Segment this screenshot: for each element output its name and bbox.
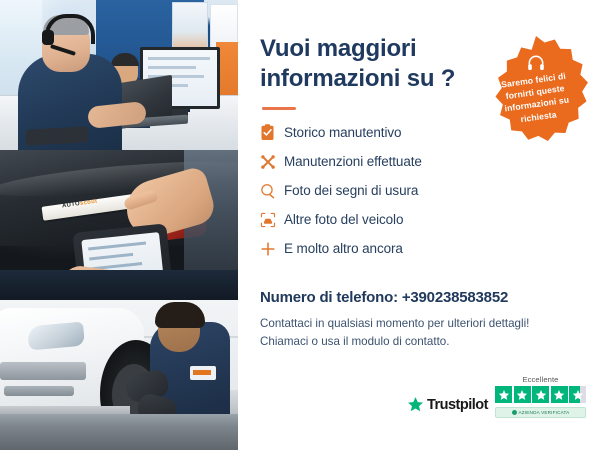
magnifier-icon bbox=[260, 183, 284, 199]
mechanic-hair bbox=[155, 302, 205, 328]
star-filled bbox=[532, 386, 549, 403]
screen-row bbox=[148, 66, 196, 69]
car-lower-grille bbox=[4, 386, 74, 396]
feature-item-altro: E molto altro ancora bbox=[260, 236, 578, 262]
feature-item-altre-foto: Altre foto del veicolo bbox=[260, 207, 578, 233]
badge-text: Saremo felici di fornirti queste informa… bbox=[477, 66, 595, 130]
trustpilot-star-icon bbox=[407, 396, 424, 413]
feature-label: E molto altro ancora bbox=[284, 241, 403, 256]
contact-line-2: Chiamaci o usa il modulo di contatto. bbox=[260, 335, 449, 348]
verified-label: AZIENDA VERIFICATA bbox=[519, 410, 570, 415]
car-grille bbox=[0, 362, 86, 380]
car-scan-icon bbox=[260, 212, 284, 228]
contact-instructions: Contattaci in qualsiasi momento per ulte… bbox=[260, 315, 578, 353]
star-filled bbox=[514, 386, 531, 403]
car-headlight bbox=[27, 322, 85, 351]
trustpilot-wordmark: Trustpilot bbox=[427, 397, 488, 413]
rating-stars bbox=[495, 386, 586, 403]
trustpilot-rating-block: Eccellente bbox=[495, 375, 586, 418]
photo-shadow-base bbox=[0, 270, 238, 300]
clipboard-check-icon bbox=[260, 124, 284, 141]
feature-label: Foto dei segni di usura bbox=[284, 183, 418, 198]
star-partial bbox=[569, 386, 586, 403]
garage-photo bbox=[0, 300, 238, 450]
lift-platform bbox=[0, 414, 238, 450]
advertisement-card: AUTOscout bbox=[0, 0, 600, 450]
headline-line-2: informazioni su ? bbox=[260, 65, 455, 92]
trustpilot-widget[interactable]: Trustpilot Eccellente bbox=[407, 375, 586, 418]
feature-label: Storico manutentivo bbox=[284, 125, 401, 140]
crossed-tools-icon bbox=[260, 154, 284, 170]
screen-row bbox=[148, 57, 210, 60]
content-panel: Vuoi maggiori informazioni su ? Saremo f… bbox=[238, 0, 600, 450]
feature-label: Altre foto del veicolo bbox=[284, 212, 403, 227]
operator-headset-cup bbox=[42, 30, 54, 45]
verified-business-badge: AZIENDA VERIFICATA bbox=[495, 407, 586, 418]
feature-item-manutenzioni: Manutenzioni effettuate bbox=[260, 149, 578, 175]
feature-label: Manutenzioni effettuate bbox=[284, 154, 422, 169]
accent-rule bbox=[262, 107, 296, 110]
rating-word: Eccellente bbox=[495, 375, 586, 384]
contact-line-1: Contattaci in qualsiasi momento per ulte… bbox=[260, 317, 529, 330]
star-filled bbox=[551, 386, 568, 403]
page-title: Vuoi maggiori informazioni su ? bbox=[260, 34, 460, 94]
feature-item-foto-usura: Foto dei segni di usura bbox=[260, 178, 578, 204]
headset-icon bbox=[525, 53, 547, 73]
star-filled bbox=[495, 386, 512, 403]
photo-column: AUTOscout bbox=[0, 0, 238, 450]
plus-icon bbox=[260, 241, 284, 257]
callout-badge: Saremo felici di fornirti queste informa… bbox=[480, 36, 592, 148]
trustpilot-logo: Trustpilot bbox=[407, 396, 488, 418]
tablet-row bbox=[88, 241, 146, 250]
headline-line-1: Vuoi maggiori bbox=[260, 35, 417, 62]
tablet-row bbox=[89, 253, 133, 261]
call-centre-photo bbox=[0, 0, 238, 150]
mechanic-uniform-badge bbox=[190, 366, 216, 380]
verified-check-icon bbox=[512, 410, 517, 415]
phone-number[interactable]: Numero di telefono: +390238583852 bbox=[260, 289, 578, 306]
inspection-photo: AUTOscout bbox=[0, 150, 238, 300]
desk-tablet bbox=[26, 126, 88, 145]
